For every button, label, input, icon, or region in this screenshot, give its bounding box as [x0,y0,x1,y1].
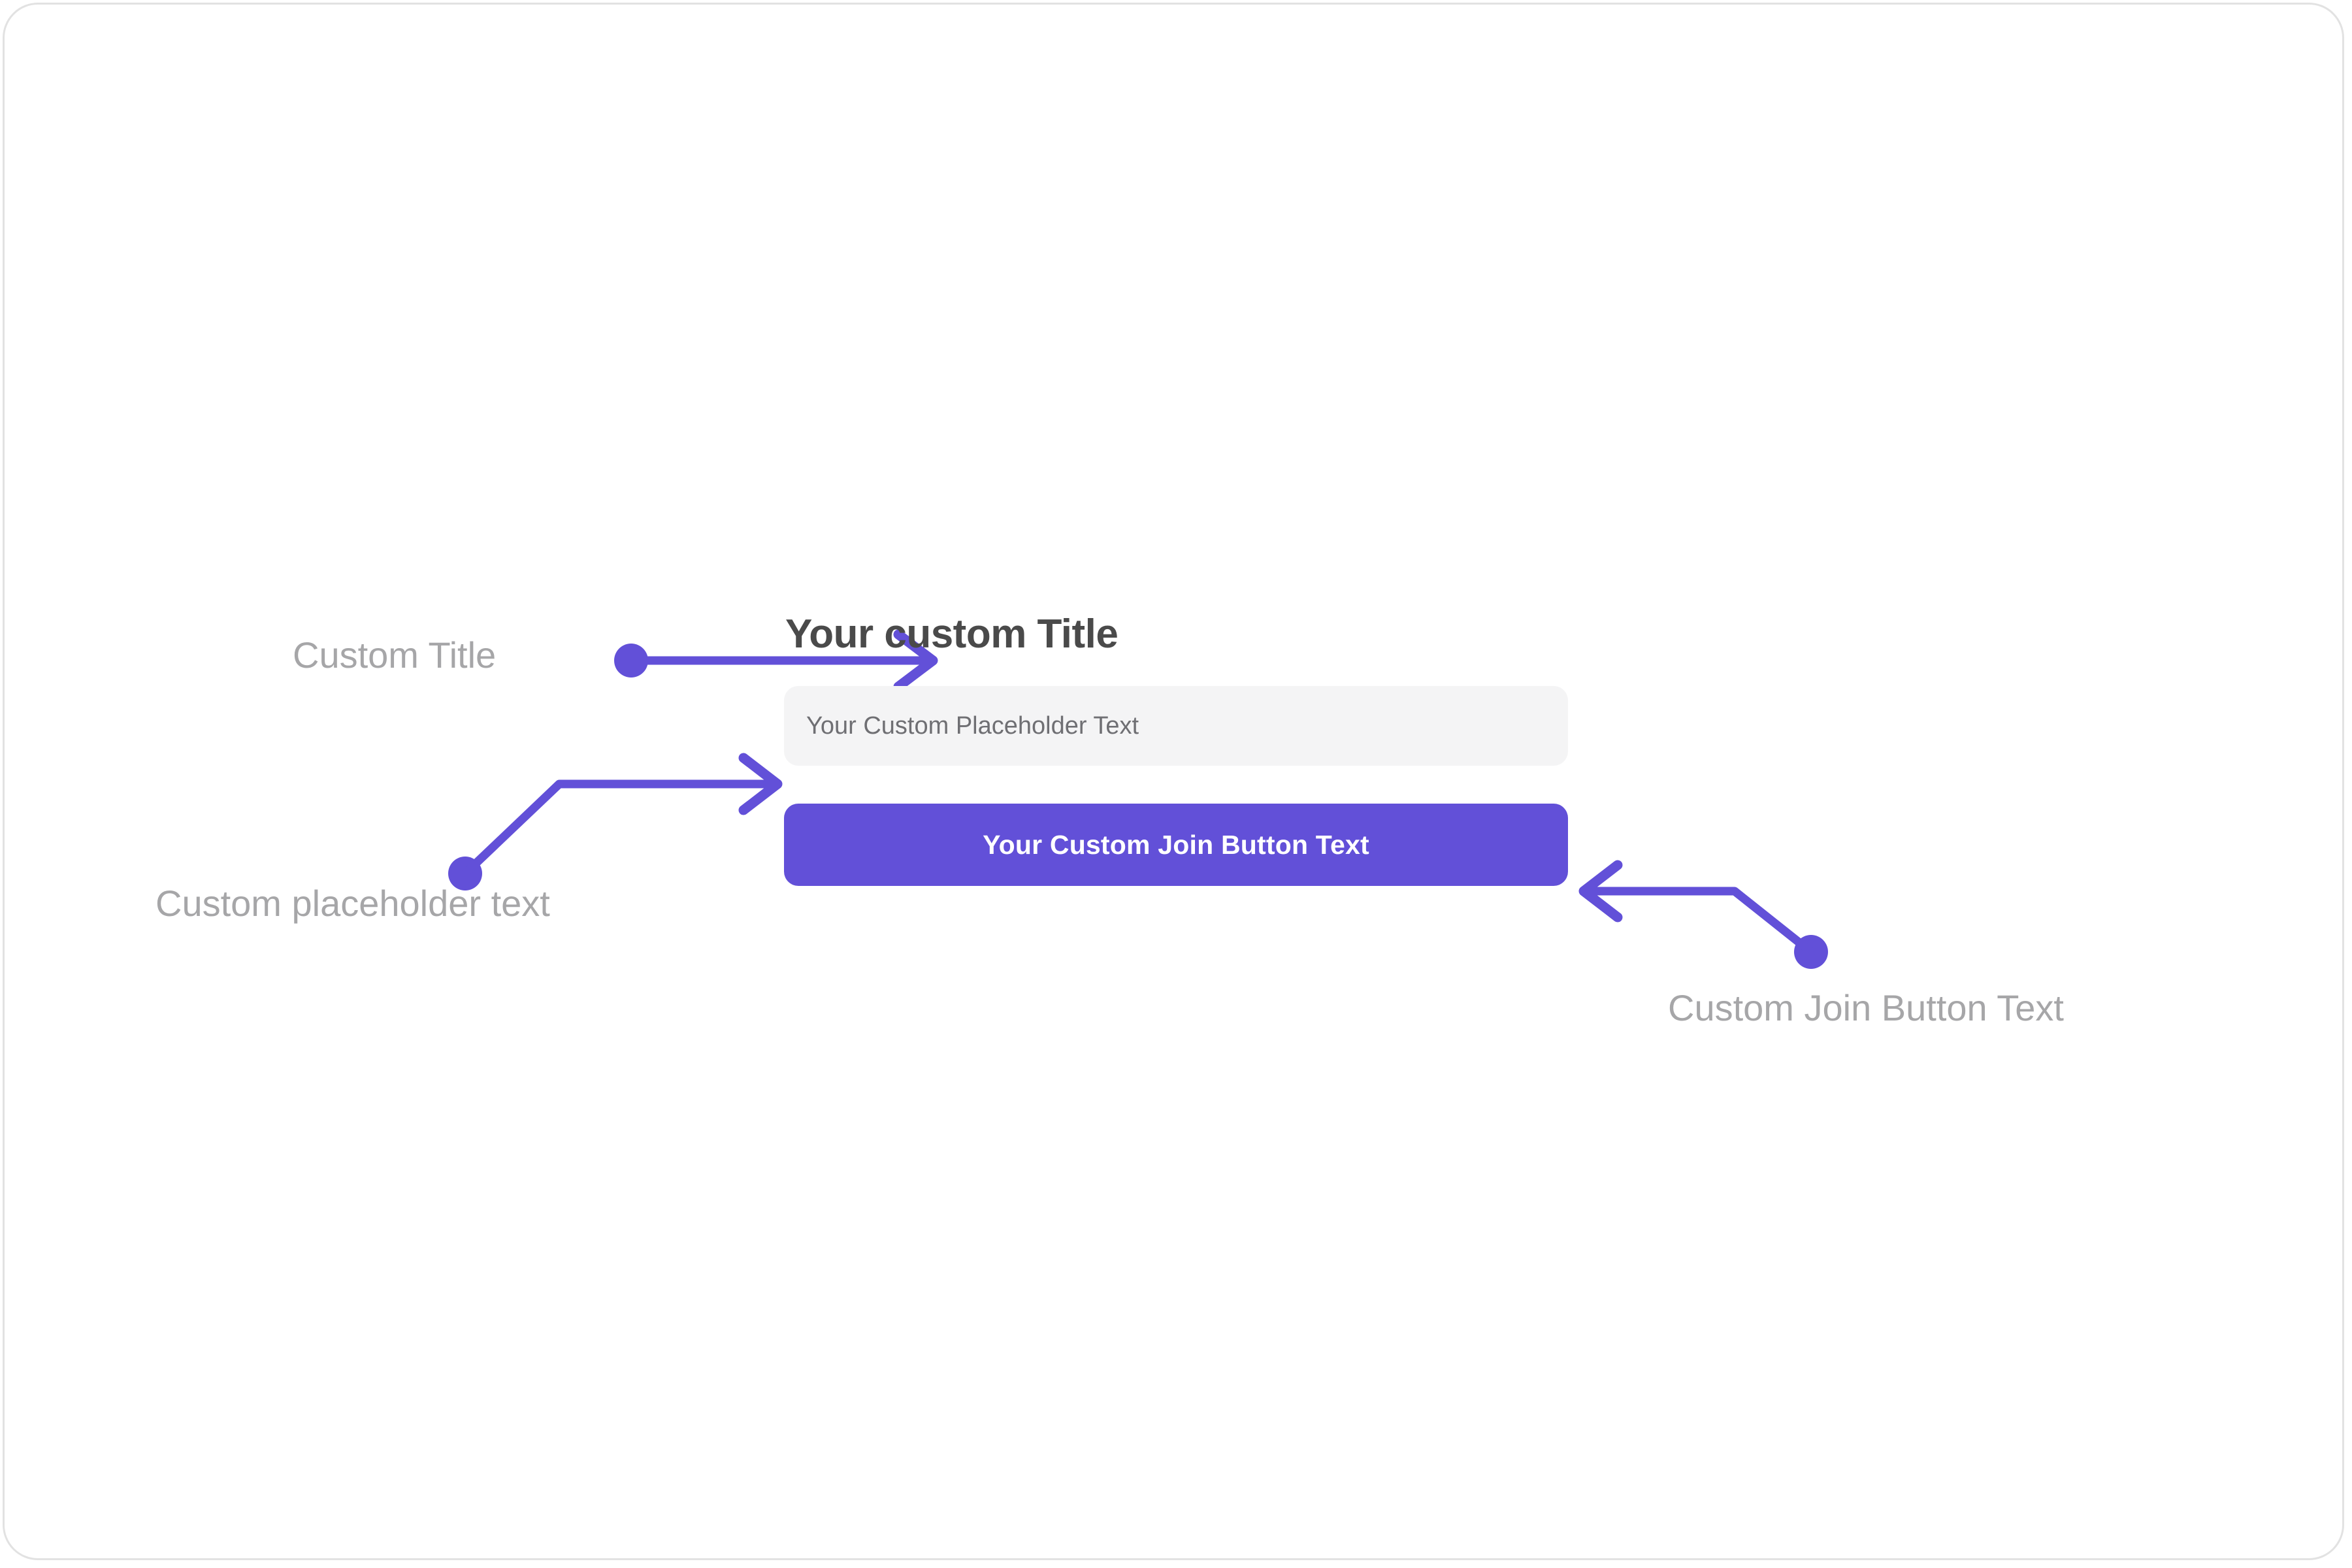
annotation-label-custom-placeholder-text: Custom placeholder text [155,885,550,922]
annotation-label-custom-join-button-text: Custom Join Button Text [1668,990,2064,1026]
widget-join-button[interactable]: Your Custom Join Button Text [784,804,1568,886]
widget-email-input[interactable] [784,686,1568,766]
join-widget-preview: Your custom Title Your Custom Join Butto… [784,614,1568,886]
screenshot-canvas: Custom Title Custom placeholder text Cus… [0,0,2352,1568]
annotation-label-custom-title: Custom Title [293,637,496,674]
widget-title: Your custom Title [784,614,1568,655]
